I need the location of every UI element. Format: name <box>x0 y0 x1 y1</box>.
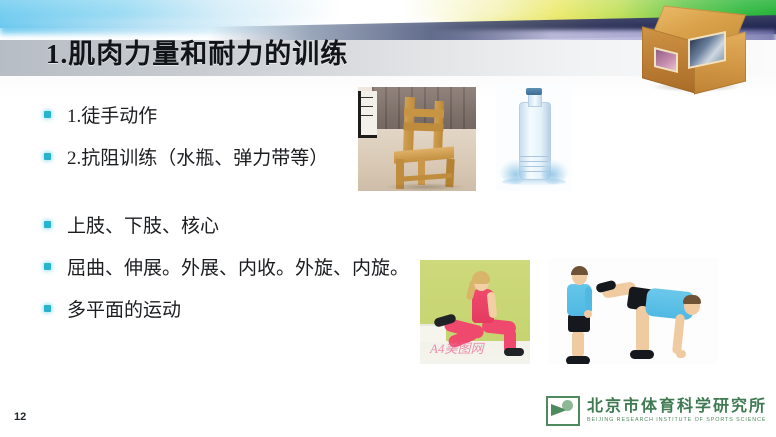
bullet-dot-icon <box>44 305 51 312</box>
bottle-splash-left <box>500 160 526 184</box>
water-bottle-photo <box>496 84 572 191</box>
logo-mark-icon <box>546 396 580 426</box>
bullet-text: 屈曲、伸展。外展、内收。外旋、内旋。 <box>67 256 409 282</box>
chair-back-slat <box>404 108 444 117</box>
bottle-cap <box>526 88 542 95</box>
bullet-dot-icon <box>44 263 51 270</box>
chair-wall-frame <box>358 91 377 138</box>
standing-man-hair <box>571 266 588 275</box>
bullet-text: 多平面的运动 <box>67 298 181 324</box>
lunge-exercise-photo: A4美图网 <box>420 260 530 364</box>
chair-wall-frame-lines <box>361 97 373 98</box>
standing-man-leg <box>572 330 584 358</box>
logo-name-en: BEIJING RESEARCH INSTITUTE OF SPORTS SCI… <box>587 416 767 425</box>
3d-cube-graphic <box>636 10 760 96</box>
deadlift-arm <box>672 314 685 355</box>
deadlift-support-shoe <box>630 350 654 359</box>
bullet-item: 上肢、下肢、核心 <box>44 214 444 240</box>
lunge-hair <box>472 271 490 284</box>
slide-canvas: 1.肌肉力量和耐力的训练 1.徒手动作 2.抗阻训练（水瓶、弹力带等） 上肢、下… <box>0 0 776 437</box>
bullet-text: 1.徒手动作 <box>67 104 157 130</box>
standing-man-hand <box>584 310 592 318</box>
page-number: 12 <box>14 411 26 423</box>
bullet-dot-icon <box>44 111 51 118</box>
logo-text-block: 北京市体育科学研究所 BEIJING RESEARCH INSTITUTE OF… <box>587 398 767 425</box>
bottle-ribs <box>520 156 548 157</box>
bullet-dot-icon <box>44 153 51 160</box>
man-deadlifting <box>600 280 710 362</box>
chair-back-post-left <box>403 97 415 153</box>
bullet-text: 2.抗阻训练（水瓶、弹力带等） <box>67 146 328 172</box>
standing-man-shoe <box>566 356 590 364</box>
single-leg-deadlift-photo <box>548 258 718 364</box>
bullet-text: 上肢、下肢、核心 <box>67 214 219 240</box>
chair-leg-back <box>418 157 425 185</box>
man-standing <box>564 268 604 362</box>
photo-watermark: A4美图网 <box>430 338 522 358</box>
bullet-item: 屈曲、伸展。外展、内收。外旋、内旋。 <box>44 256 444 282</box>
bullet-item: 多平面的运动 <box>44 298 444 324</box>
page-title: 1.肌肉力量和耐力的训练 <box>46 36 348 72</box>
deadlift-hair <box>683 295 701 304</box>
chair-floor-shadow <box>384 183 466 191</box>
logo-name-cn: 北京市体育科学研究所 <box>587 398 767 416</box>
wooden-chair-photo <box>358 87 476 191</box>
bullet-dot-icon <box>44 221 51 228</box>
bullet-group-2: 上肢、下肢、核心 屈曲、伸展。外展、内收。外旋、内旋。 多平面的运动 <box>44 214 444 340</box>
bottle-neck <box>528 93 542 107</box>
deadlift-hand <box>676 350 686 358</box>
institute-logo: 北京市体育科学研究所 BEIJING RESEARCH INSTITUTE OF… <box>546 396 767 426</box>
